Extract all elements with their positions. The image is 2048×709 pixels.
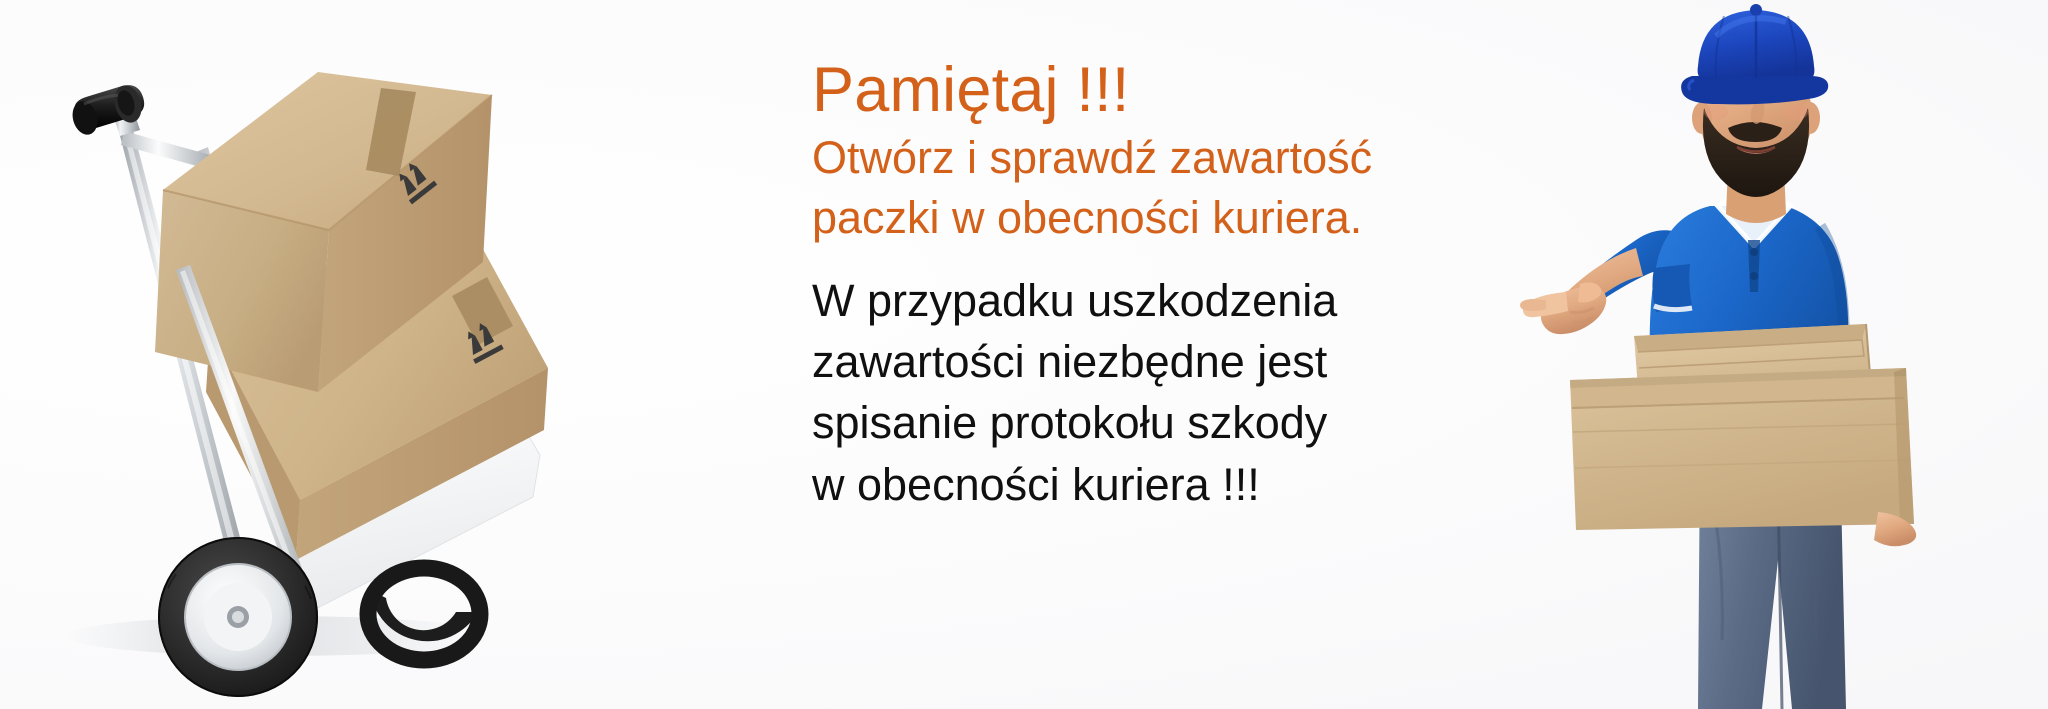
orange-line-2: paczki w obecności kuriera. — [812, 188, 1512, 248]
page-title: Pamiętaj !!! — [812, 58, 1512, 122]
black-line-3: spisanie protokołu szkody — [812, 392, 1512, 453]
hand-truck-illustration — [0, 0, 600, 709]
wheel-rear — [368, 568, 480, 660]
delivery-warning-banner: Pamiętaj !!! Otwórz i sprawdź zawartość … — [0, 0, 2048, 709]
hand-truck-svg — [0, 0, 600, 709]
black-line-2: zawartości niezbędne jest — [812, 331, 1512, 392]
black-line-1: W przypadku uszkodzenia — [812, 270, 1512, 331]
warning-text-block: Pamiętaj !!! Otwórz i sprawdź zawartość … — [812, 58, 1512, 515]
cap-icon — [1681, 4, 1828, 104]
orange-line-1: Otwórz i sprawdź zawartość — [812, 128, 1512, 188]
wheel-main — [158, 537, 318, 697]
black-line-4: w obecności kuriera !!! — [812, 454, 1512, 515]
orange-instruction-paragraph: Otwórz i sprawdź zawartość paczki w obec… — [812, 128, 1512, 248]
black-instruction-paragraph: W przypadku uszkodzenia zawartości niezb… — [812, 270, 1512, 515]
courier-svg — [1448, 0, 2048, 709]
held-boxes — [1570, 324, 1914, 530]
courier-illustration — [1448, 0, 2048, 709]
